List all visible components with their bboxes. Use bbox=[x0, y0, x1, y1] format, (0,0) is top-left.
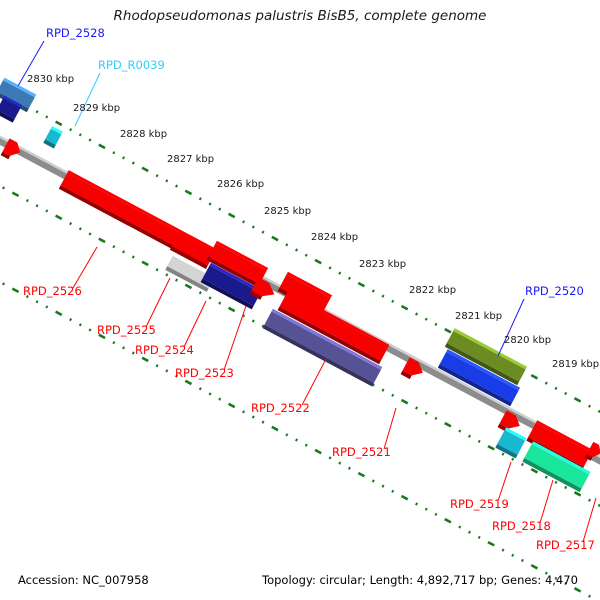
ruler-tick-label: 2826 kbp bbox=[217, 179, 264, 190]
gene-label-rpd_2523[interactable]: RPD_2523 bbox=[175, 366, 234, 380]
ruler-tick-label: 2824 kbp bbox=[311, 232, 358, 243]
genome-stats-label: Topology: circular; Length: 4,892,717 bp… bbox=[261, 573, 578, 587]
page-title: Rhodopseudomonas palustris BisB5, comple… bbox=[114, 8, 487, 24]
gene-label-rpd_2525[interactable]: RPD_2525 bbox=[97, 323, 156, 337]
genome-viewer: 2830 kbp2829 kbp2828 kbp2827 kbp2826 kbp… bbox=[0, 0, 600, 600]
ruler-tick-label: 2829 kbp bbox=[73, 103, 120, 114]
ruler-tick-label: 2821 kbp bbox=[455, 311, 502, 322]
leader-line-rpd_2526 bbox=[73, 247, 97, 288]
ruler-tick-label: 2827 kbp bbox=[167, 154, 214, 165]
leader-line-rpd_2523 bbox=[224, 306, 246, 370]
feature-2519 bbox=[495, 427, 526, 458]
genome-canvas: 2830 kbp2829 kbp2828 kbp2827 kbp2826 kbp… bbox=[0, 0, 600, 600]
leader-line-rpd_2524 bbox=[184, 301, 206, 347]
feature-R0039 bbox=[43, 126, 63, 148]
gene-label-rpd_2524[interactable]: RPD_2524 bbox=[135, 343, 194, 357]
gene-label-rpd_2518[interactable]: RPD_2518 bbox=[492, 519, 551, 533]
leader-line-rpd_2525 bbox=[146, 278, 170, 327]
ruler-tick-label: 2830 kbp bbox=[27, 74, 74, 85]
gene-label-rpd_2522[interactable]: RPD_2522 bbox=[251, 401, 310, 415]
gene-label-rpd_2517[interactable]: RPD_2517 bbox=[536, 538, 595, 552]
leader-line-rpd_2517 bbox=[583, 498, 596, 542]
leader-line-rpd_2519 bbox=[498, 462, 511, 501]
gene-label-rpd_2521[interactable]: RPD_2521 bbox=[332, 445, 391, 459]
leader-line-rpd_2520 bbox=[498, 299, 524, 356]
ruler-tick-label: 2825 kbp bbox=[264, 206, 311, 217]
leader-line-rpd_2518 bbox=[540, 480, 553, 523]
gene-label-rpd_2520[interactable]: RPD_2520 bbox=[525, 284, 584, 298]
ruler-tick-label: 2828 kbp bbox=[120, 129, 167, 140]
gene-label-rpd_2528[interactable]: RPD_2528 bbox=[46, 26, 105, 40]
leader-line-rpd_r0039 bbox=[75, 73, 100, 126]
ruler-tick-label: 2819 kbp bbox=[552, 359, 599, 370]
ruler-tick-label: 2822 kbp bbox=[409, 285, 456, 296]
ruler-tick-label: 2823 kbp bbox=[359, 259, 406, 270]
gene-label-rpd_2526[interactable]: RPD_2526 bbox=[23, 284, 82, 298]
leader-line-rpd_2521 bbox=[384, 408, 396, 449]
gene-label-rpd_r0039[interactable]: RPD_R0039 bbox=[98, 58, 165, 72]
gene-label-rpd_2519[interactable]: RPD_2519 bbox=[450, 497, 509, 511]
accession-label: Accession: NC_007958 bbox=[18, 573, 149, 587]
leader-line-rpd_2522 bbox=[302, 359, 326, 405]
ruler-tick-label: 2820 kbp bbox=[504, 335, 551, 346]
